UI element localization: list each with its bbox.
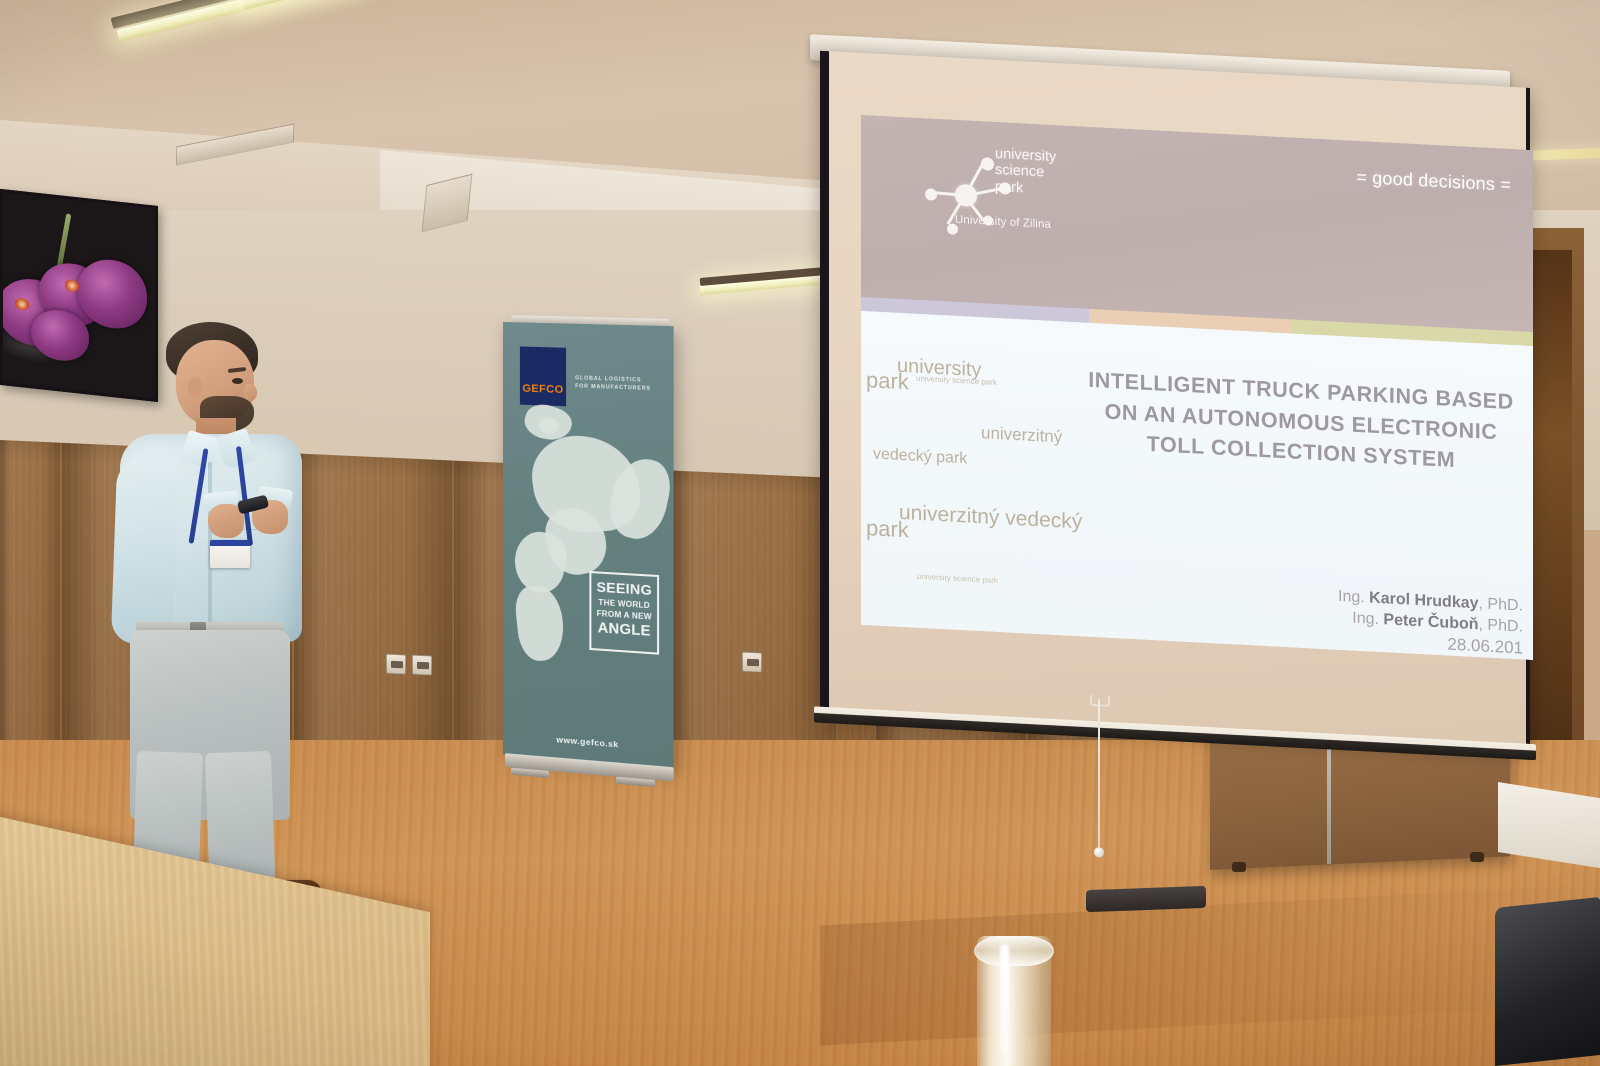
watermark-usp-small: university science park — [916, 374, 997, 387]
presenter-left-arm — [111, 457, 179, 645]
wood-panel-seam — [0, 440, 60, 773]
watermark-vedecky-park: vedecký park — [873, 446, 967, 469]
dark-chair-back-right — [1495, 897, 1600, 1066]
bottle-highlight — [1000, 944, 1009, 1054]
screen-pull-knob[interactable] — [1094, 847, 1104, 858]
slide-body: university park university science park … — [861, 311, 1533, 660]
watermark-usp-small-2: university science park — [917, 572, 998, 585]
author1-prefix: Ing. — [1338, 588, 1365, 606]
banner-face: GEFCO GLOBAL LOGISTICS FOR MANUFACTURERS… — [503, 322, 674, 768]
slide-title: INTELLIGENT TRUCK PARKING BASED ON AN AU… — [1087, 365, 1515, 479]
watermark-univerzitny: univerzitný — [981, 423, 1062, 447]
author2-suffix: , PhD. — [1479, 616, 1523, 635]
logo-subtitle: University of Zilina — [955, 214, 1051, 231]
presenter-id-badge — [210, 540, 250, 568]
banner-website-url: www.gefco.sk — [503, 730, 674, 754]
presenter — [92, 322, 342, 914]
conference-room-photo: GEFCO GLOBAL LOGISTICS FOR MANUFACTURERS… — [0, 0, 1600, 1066]
university-science-park-logo: university science park University of Zi… — [919, 136, 1129, 251]
screen-surface: university science park University of Zi… — [820, 51, 1530, 748]
gefco-logo: GEFCO — [520, 346, 566, 406]
presenter-ear — [188, 378, 202, 397]
slide-motto: = good decisions = — [1356, 167, 1511, 196]
author2-prefix: Ing. — [1352, 610, 1379, 628]
gefco-tagline-line2: FOR MANUFACTURERS — [575, 382, 667, 393]
logo-node — [925, 188, 937, 201]
landmass-island — [539, 417, 559, 434]
wall-outlet-2[interactable] — [412, 655, 432, 676]
logo-node — [981, 157, 994, 171]
screen-pull-handle[interactable] — [1090, 695, 1110, 707]
cabinet-foot-right — [1470, 852, 1484, 862]
gefco-tagline: GLOBAL LOGISTICS FOR MANUFACTURERS — [575, 374, 667, 393]
landmass-samerica — [513, 585, 567, 661]
gefco-slogan-box: SEEING THE WORLD FROM A NEW ANGLE — [589, 571, 659, 655]
screen-pull-cord[interactable] — [1098, 699, 1100, 849]
watermark-univerzitny-vedecky: univerzitný vedecký — [899, 501, 1082, 535]
author1-suffix: , PhD. — [1479, 595, 1523, 614]
watermark-park: park — [866, 367, 909, 395]
projected-slide: university science park University of Zi… — [861, 115, 1533, 660]
wall-outlet-3[interactable] — [742, 652, 762, 673]
gefco-wordmark: GEFCO — [520, 383, 566, 397]
presenter-eye — [232, 378, 243, 384]
glass-bottle-rim — [974, 936, 1054, 966]
logo-line-park: park — [995, 179, 1056, 199]
wall-outlet-1[interactable] — [386, 654, 406, 675]
slogan-line4: ANGLE — [591, 620, 657, 641]
cabinet-foot-left — [1232, 862, 1246, 872]
slide-author-block: Ing. Karol Hrudkay, PhD. Ing. Peter Čubo… — [1223, 580, 1523, 660]
dark-object-background — [1086, 886, 1206, 912]
projection-screen: university science park University of Zi… — [806, 0, 1546, 773]
logo-text-block: university science park — [995, 146, 1056, 198]
slogan-line1: SEEING — [591, 578, 657, 598]
gefco-rollup-banner: GEFCO GLOBAL LOGISTICS FOR MANUFACTURERS… — [503, 322, 674, 768]
author2-name: Peter Čuboň — [1383, 611, 1478, 633]
world-map-graphic — [503, 400, 674, 713]
watermark-park-2: park — [866, 515, 909, 543]
